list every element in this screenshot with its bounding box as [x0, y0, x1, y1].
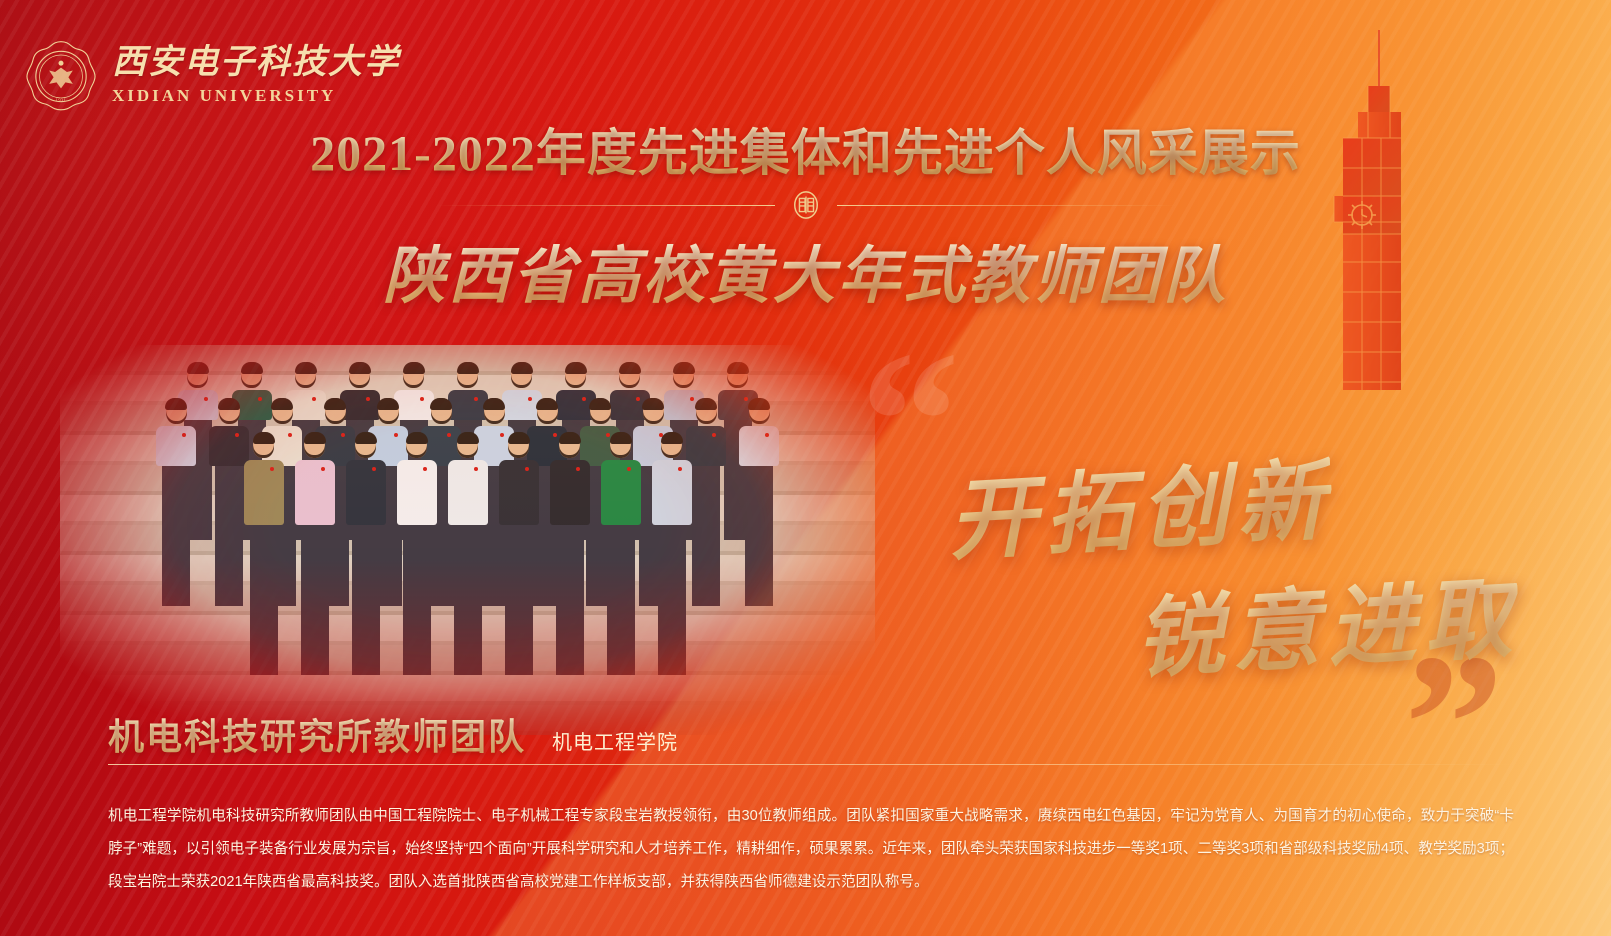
logo-chinese-name: 西安电子科技大学 [112, 46, 400, 80]
svg-text:1931: 1931 [56, 98, 67, 103]
xidian-seal-icon: 1931 [24, 38, 98, 112]
team-description: 机电工程学院机电科技研究所教师团队由中国工程院院士、电子机械工程专家段宝岩教授领… [108, 800, 1514, 899]
footer-divider [108, 764, 1514, 765]
team-identity: 机电科技研究所教师团队 机电工程学院 [108, 708, 678, 760]
university-logo: 1931 西安电子科技大学 XIDIAN UNIVERSITY [24, 38, 400, 112]
poster-canvas: 1931 西安电子科技大学 XIDIAN UNIVERSITY 2021-202… [0, 0, 1611, 936]
calligraphy-line-1: 开拓创新 [945, 429, 1336, 577]
calligraphy-line-2: 锐意进取 [1132, 547, 1523, 695]
round-seal-ornament-icon [791, 190, 821, 220]
team-name: 机电科技研究所教师团队 [108, 708, 526, 760]
team-group-photo [60, 345, 875, 735]
title-divider [0, 190, 1611, 220]
logo-english-name: XIDIAN UNIVERSITY [112, 87, 400, 104]
page-subtitle: 陕西省高校黄大年式教师团队 [0, 225, 1611, 315]
divider-rule-left [435, 205, 775, 206]
college-name: 机电工程学院 [552, 726, 678, 755]
photo-warm-overlay [60, 345, 875, 735]
page-title: 2021-2022年度先进集体和先进个人风采展示 [0, 113, 1611, 185]
divider-rule-right [837, 205, 1177, 206]
